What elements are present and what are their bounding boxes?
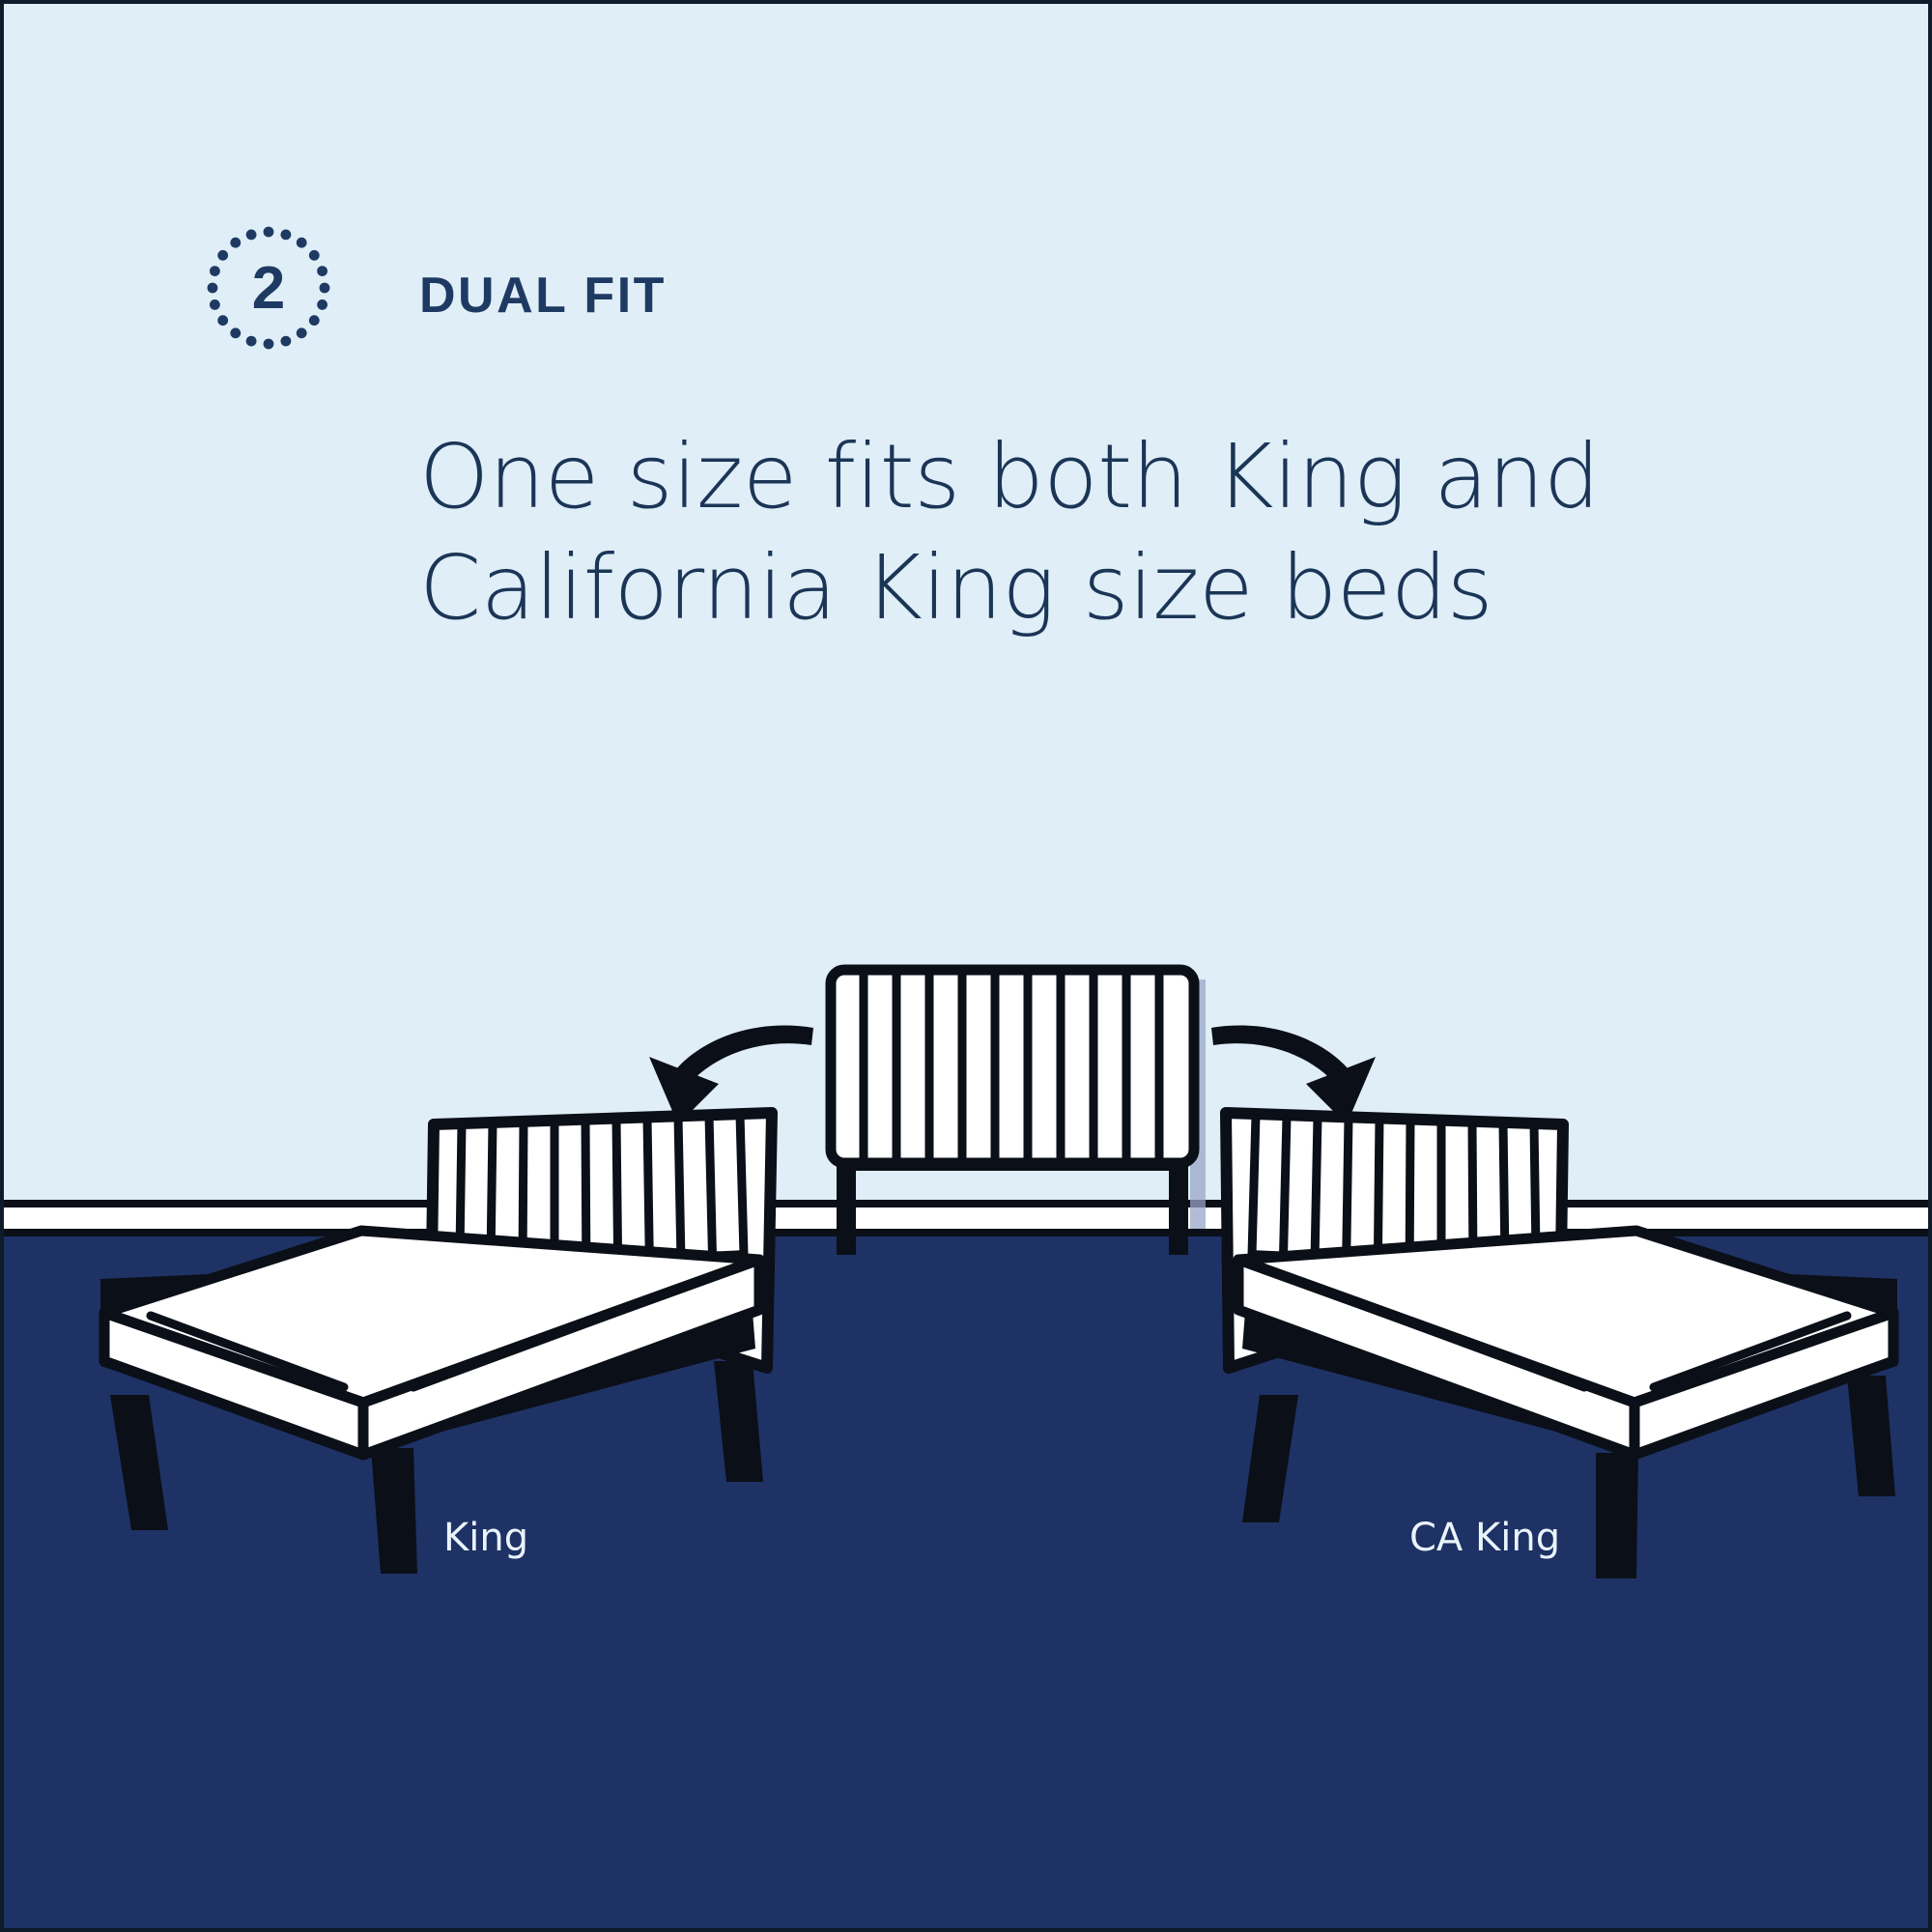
floor-background (4, 1236, 1928, 1932)
bed-label-ca-king: CA King (1409, 1516, 1560, 1560)
page-headline: One size fits both King and California K… (419, 421, 1791, 643)
section-eyebrow: DUAL FIT (419, 267, 667, 325)
infographic-canvas: 2 DUAL FIT One size fits both King and C… (0, 0, 1932, 1932)
headline-line-2: California King size beds (419, 532, 1791, 643)
step-badge: 2 (205, 224, 332, 352)
step-number: 2 (205, 224, 332, 352)
baseboard-top-edge (4, 1200, 1928, 1207)
bed-label-king: King (443, 1516, 528, 1560)
headline-line-1: One size fits both King and (419, 421, 1791, 532)
baseboard-bottom-edge (4, 1229, 1928, 1236)
baseboard-trim (4, 1207, 1928, 1229)
